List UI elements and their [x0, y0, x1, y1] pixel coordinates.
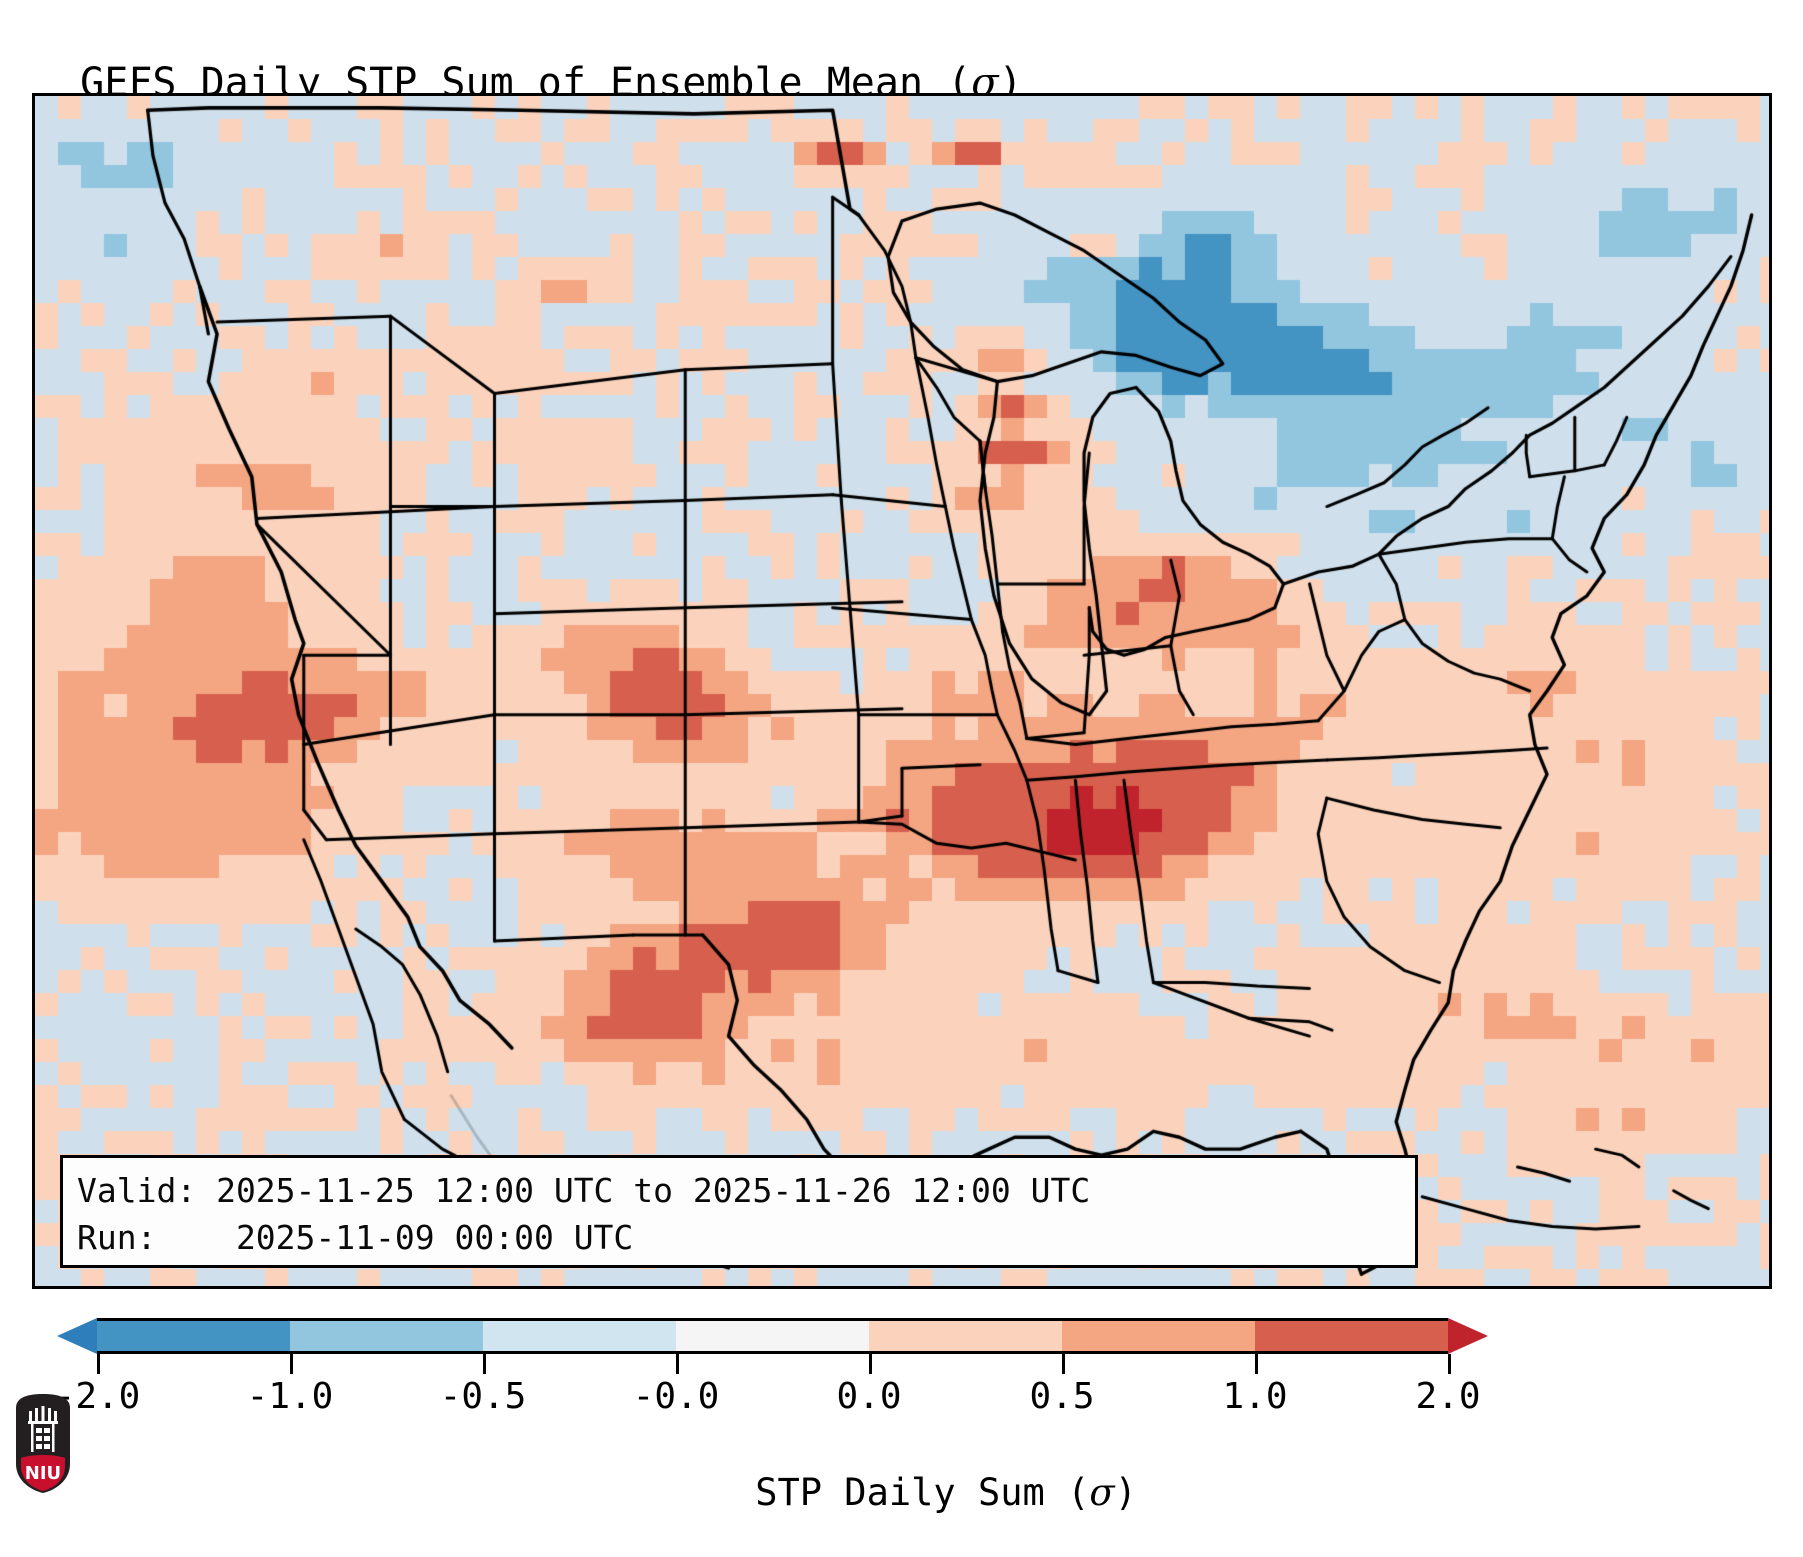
colorbar-tick-4	[869, 1354, 872, 1374]
niu-logo-text: NIU	[25, 1463, 61, 1484]
colorbar-tick-label-7: 2.0	[1415, 1376, 1480, 1417]
colorbar-label-suffix: )	[1115, 1471, 1137, 1514]
valid-time-row: Valid: 2025-11-25 12:00 UTC to 2025-11-2…	[77, 1167, 1401, 1214]
colorbar-segment-0	[97, 1321, 290, 1351]
colorbar-segment-2	[483, 1321, 676, 1351]
colorbar-segment-6	[1255, 1321, 1448, 1351]
colorbar-tick-label-6: 1.0	[1222, 1376, 1287, 1417]
colorbar-over-arrow	[1448, 1318, 1488, 1354]
colorbar-gradient[interactable]	[97, 1318, 1448, 1354]
colorbar-tick-2	[483, 1354, 486, 1374]
colorbar-tick-6	[1255, 1354, 1258, 1374]
niu-logo: NIU	[12, 1392, 74, 1496]
colorbar-tick-0	[97, 1354, 100, 1374]
colorbar-segment-5	[1062, 1321, 1255, 1351]
run-time-row: Run: 2025-11-09 00:00 UTC	[77, 1214, 1401, 1261]
colorbar-segment-1	[290, 1321, 483, 1351]
colorbar-tick-1	[290, 1354, 293, 1374]
colorbar-tick-label-5: 0.5	[1029, 1376, 1094, 1417]
colorbar-region: -2.0-1.0-0.5-0.00.00.51.02.0 STP Daily S…	[0, 1300, 1803, 1506]
colorbar-tick-3	[676, 1354, 679, 1374]
colorbar-tick-label-1: -1.0	[247, 1376, 334, 1417]
colorbar-axis[interactable]: -2.0-1.0-0.5-0.00.00.51.02.0	[97, 1318, 1448, 1354]
forecast-info-box: Valid: 2025-11-25 12:00 UTC to 2025-11-2…	[60, 1155, 1418, 1268]
colorbar-label: STP Daily Sum (σ)	[0, 1428, 1803, 1557]
colorbar-label-text: STP Daily Sum (	[755, 1471, 1089, 1514]
colorbar-tick-label-4: 0.0	[836, 1376, 901, 1417]
colorbar-under-arrow	[57, 1318, 97, 1354]
map-panel[interactable]	[32, 93, 1772, 1289]
colorbar-segment-3	[676, 1321, 869, 1351]
colorbar-sigma-symbol: σ	[1089, 1471, 1114, 1514]
colorbar-segment-4	[869, 1321, 1062, 1351]
colorbar-tick-5	[1062, 1354, 1065, 1374]
colorbar-tick-label-3: -0.0	[633, 1376, 720, 1417]
colorbar-tick-7	[1448, 1354, 1451, 1374]
colorbar-tick-label-2: -0.5	[440, 1376, 527, 1417]
map-heatmap-canvas[interactable]	[35, 96, 1769, 1286]
